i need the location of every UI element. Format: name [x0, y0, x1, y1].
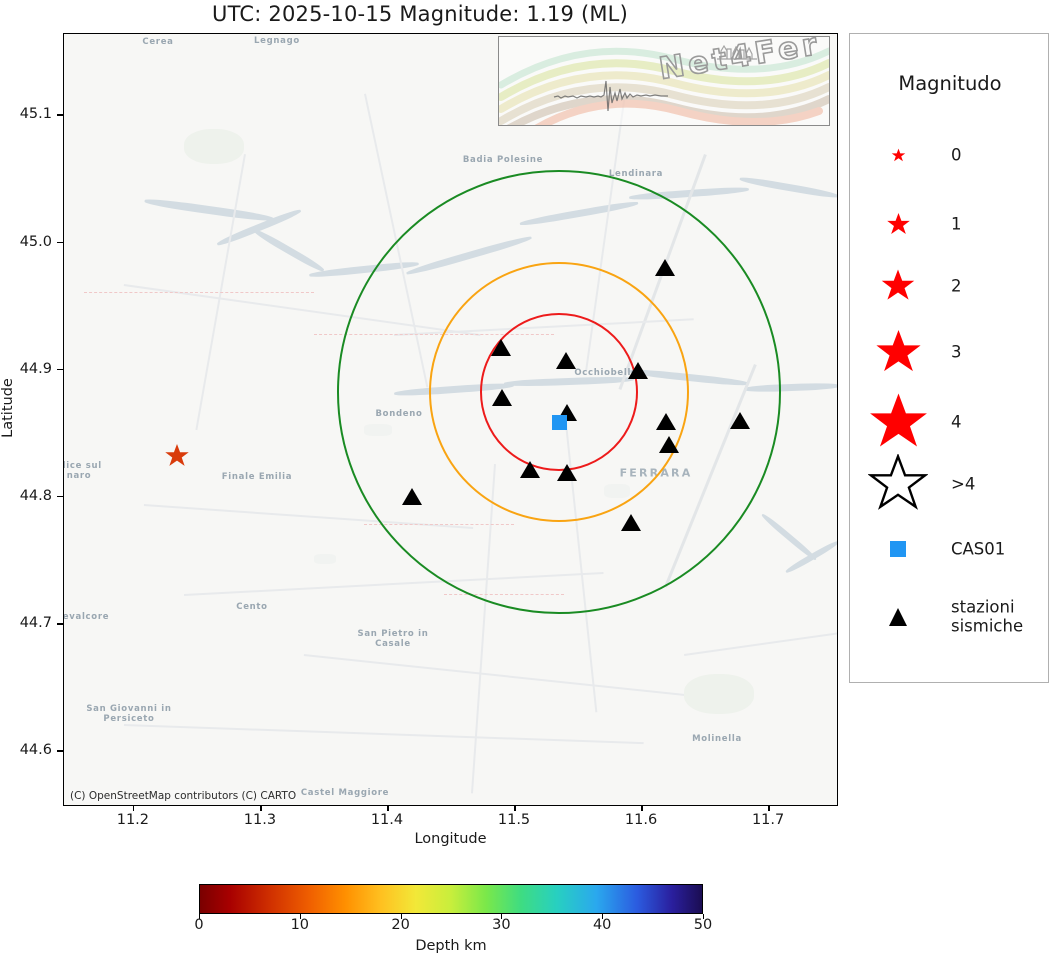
legend-title: Magnitudo	[850, 72, 1050, 95]
station-marker[interactable]	[659, 436, 679, 453]
map-place-label: San Giovanni inPersiceto	[86, 705, 171, 725]
x-tick-label: 11.7	[752, 812, 784, 828]
x-tick-label: 11.5	[498, 812, 530, 828]
y-tick	[57, 114, 63, 116]
map-place-label: Cerea	[142, 37, 173, 47]
y-tick-label: 44.7	[20, 615, 52, 631]
y-tick-label: 44.6	[20, 742, 52, 758]
legend-item-label: >4	[951, 474, 975, 493]
y-tick	[57, 369, 63, 371]
cas01-station-marker[interactable]	[552, 415, 567, 430]
y-tick-label: 45.0	[20, 234, 52, 250]
legend-item-label: 1	[951, 214, 962, 233]
map-attribution: (C) OpenStreetMap contributors (C) CARTO	[69, 790, 297, 802]
x-tick	[133, 806, 135, 811]
station-marker[interactable]	[656, 413, 676, 430]
x-axis-label: Longitude	[63, 831, 838, 847]
station-marker[interactable]	[402, 488, 422, 505]
map-place-label: Legnago	[254, 36, 300, 46]
map-place-label: Cento	[236, 602, 267, 612]
basemap-carto-positron: CereaLegnagoBadia PolesineLendinaraOcchi…	[64, 34, 837, 805]
map-place-label: San Pietro inCasale	[358, 630, 429, 650]
map-place-label: Molinella	[692, 734, 742, 744]
y-tick	[57, 623, 63, 625]
depth-colorbar[interactable]	[199, 884, 703, 914]
map-place-label: Castel Maggiore	[301, 788, 389, 798]
y-tick	[57, 242, 63, 244]
station-marker[interactable]	[492, 389, 512, 406]
colorbar-tick-label: 50	[694, 917, 712, 933]
y-axis-label: Latitude	[0, 378, 16, 438]
x-tick	[387, 806, 389, 811]
legend-item-label: 3	[951, 342, 962, 361]
x-tick	[768, 806, 770, 811]
x-tick	[514, 806, 516, 811]
legend-panel: Magnitudo 0 1 2 3 4 >4CAS01stazionisismi…	[849, 33, 1049, 683]
station-marker[interactable]	[556, 352, 576, 369]
earthquake-epicenter-star[interactable]	[164, 443, 190, 473]
x-tick-label: 11.3	[244, 812, 276, 828]
map-plot-area[interactable]: CereaLegnagoBadia PolesineLendinaraOcchi…	[63, 33, 838, 806]
colorbar-tick-label: 30	[492, 917, 510, 933]
legend-item-label: 2	[951, 276, 962, 295]
y-tick-label: 44.8	[20, 488, 52, 504]
x-tick-label: 11.2	[117, 812, 149, 828]
net4fer-logo-inset: Net4Fer	[498, 36, 830, 126]
x-tick-label: 11.6	[625, 812, 657, 828]
colorbar-tick-label: 20	[391, 917, 409, 933]
x-tick	[260, 806, 262, 811]
x-tick	[641, 806, 643, 811]
page-title: UTC: 2025-10-15 Magnitude: 1.19 (ML)	[0, 2, 840, 26]
station-marker[interactable]	[655, 259, 675, 276]
station-marker[interactable]	[557, 464, 577, 481]
colorbar-tick-label: 10	[291, 917, 309, 933]
map-place-label: Badia Polesine	[463, 155, 543, 165]
map-place-label: evalcore	[63, 612, 109, 622]
station-marker[interactable]	[491, 339, 511, 356]
colorbar-label: Depth km	[199, 938, 703, 954]
station-marker[interactable]	[730, 412, 750, 429]
map-place-label: elice sulnaro	[63, 462, 102, 482]
y-tick-label: 44.9	[20, 361, 52, 377]
colorbar-tick-label: 40	[593, 917, 611, 933]
station-marker[interactable]	[520, 461, 540, 478]
x-tick-label: 11.4	[371, 812, 403, 828]
station-marker[interactable]	[628, 362, 648, 379]
y-tick	[57, 750, 63, 752]
y-tick-label: 45.1	[20, 106, 52, 122]
station-marker[interactable]	[621, 514, 641, 531]
colorbar-tick-label: 0	[194, 917, 203, 933]
legend-item-label: CAS01	[951, 539, 1005, 558]
colorbar-gradient	[199, 884, 703, 914]
y-tick	[57, 496, 63, 498]
legend-item-label: 0	[951, 145, 962, 164]
legend-item-label: stazionisismiche	[951, 598, 1023, 637]
map-place-label: Finale Emilia	[222, 472, 292, 482]
legend-item-label: 4	[951, 412, 962, 431]
